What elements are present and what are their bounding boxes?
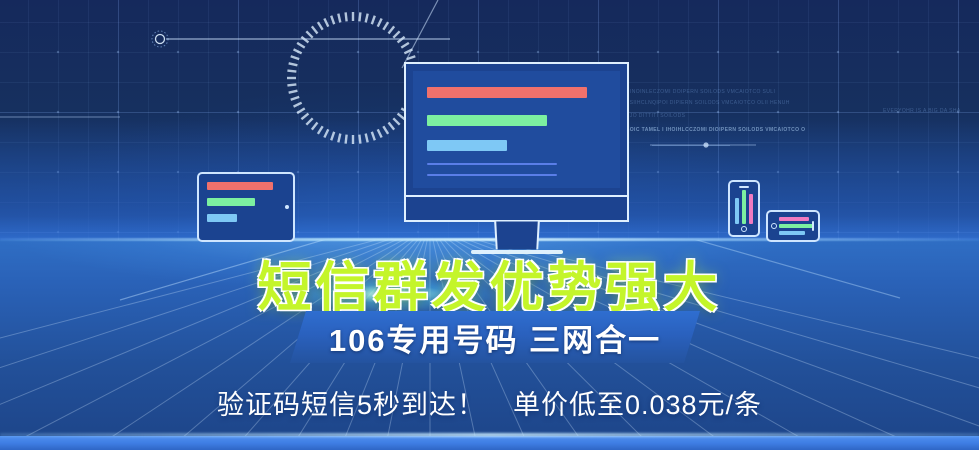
monitor-bar-3 [427,140,507,151]
tablet-bar-3 [207,214,237,222]
left-accent-line-icon [0,112,120,122]
phone-home-button-icon [741,226,747,232]
desktop-monitor [404,62,629,254]
phone-vbar-1 [735,198,739,224]
phone-landscape-screen [779,217,810,235]
phone-portrait-screen [734,191,754,224]
promo-banner: INOINLECZOMI DOIPERN SOILODS VMCAIOTCO S… [0,0,979,450]
phone-landscape-bar-2 [779,224,813,228]
monitor-screen [404,62,629,197]
ghost-text-line: SOIC TAMEL I IHOIHLCCZOMI DIOIPERN SOILO… [626,126,805,134]
tablet-bar-1 [207,182,273,190]
phone-landscape-speaker-icon [812,221,814,231]
floor-bottom-strip [0,436,979,450]
tablet-bar-2 [207,198,255,206]
phone-landscape [766,210,820,242]
ghost-slider-icon [648,138,758,152]
ghost-text-line: IJO DITTITI SOILODS [628,112,685,120]
monitor-line-1 [427,163,557,165]
tablet-home-button-icon [285,205,289,209]
monitor-screen-content [413,71,620,188]
phone-landscape-bar-1 [779,217,809,221]
monitor-bar-1 [427,87,587,98]
phone-portrait [728,180,760,237]
ghost-text-line: INOINLECZOMI DOIPERN SOILODS VMCAIOTCO S… [630,88,775,96]
tablet-landscape [197,172,295,242]
diagonal-accent-line-icon [400,0,440,70]
phone-portrait-body [728,180,760,237]
phone-vbar-3 [749,194,753,224]
phone-landscape-home-button-icon [771,223,777,229]
sub-banner-label: 106专用号码 三网合一 [290,311,700,363]
tagline: 验证码短信5秒到达！ 单价低至0.038元/条 [0,383,979,422]
phone-speaker-icon [739,186,749,188]
ghost-text-line: I SIIHCLNQIPOI DIPIERN SOILODS VMCAIOTCO… [626,99,790,107]
monitor-bezel-base [404,197,629,222]
phone-landscape-bar-3 [779,231,805,235]
tablet-body [197,172,295,242]
ghost-text-line: EVERYOHR IS A BIG DA SHA [883,107,961,115]
phone-vbar-2 [742,190,746,224]
monitor-line-2 [427,174,557,176]
phone-landscape-body [766,210,820,242]
monitor-bar-2 [427,115,547,126]
